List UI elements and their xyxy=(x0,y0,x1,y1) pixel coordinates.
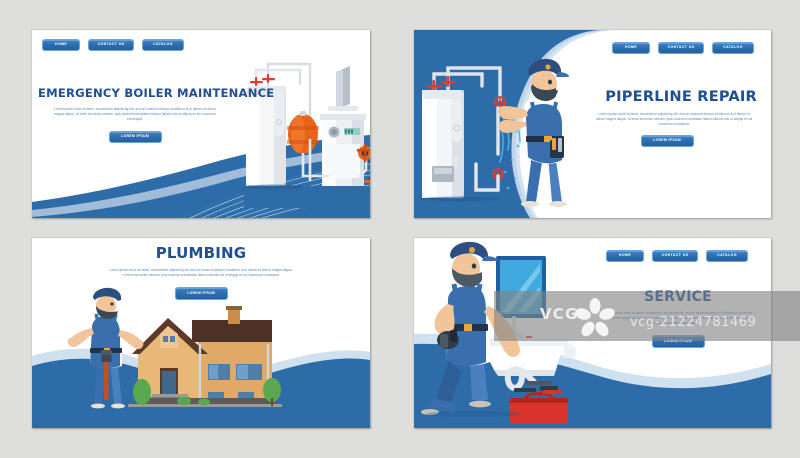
screenshot-canvas: HOME CONTACT US CATALOG EMERGENCY BOILER… xyxy=(0,0,800,458)
hero-copy: PLUMBING Lorem ipsum dolor sit amet, con… xyxy=(94,246,308,300)
cta-button[interactable]: LOREM IPSUM xyxy=(109,131,162,143)
cta-button[interactable]: LOREM IPSUM xyxy=(641,135,694,147)
illustration-boiler-and-furnace xyxy=(244,48,370,208)
nav-contact-us-button[interactable]: CONTACT US xyxy=(88,39,134,51)
watermark-overlay: VCG vcg-21224781469 xyxy=(494,291,800,341)
panel-plumbing: PLUMBING Lorem ipsum dolor sit amet, con… xyxy=(32,238,370,428)
body-text: Lorem ipsum dolor sit amet, consectetur … xyxy=(574,112,760,127)
watermark-logo-text: VCG xyxy=(540,305,579,323)
nav-home-button[interactable]: HOME xyxy=(606,250,644,262)
hero-copy: PIPERLINE REPAIR Lorem ipsum dolor sit a… xyxy=(574,90,760,147)
nav-bar: HOME CONTACT US CATALOG xyxy=(42,39,184,51)
nav-catalog-button[interactable]: CATALOG xyxy=(712,42,754,54)
cta-button[interactable]: LOREM IPSUM xyxy=(175,287,228,299)
page-title: EMERGENCY BOILER MAINTENANCE xyxy=(38,88,232,100)
page-title: PIPERLINE REPAIR xyxy=(574,90,760,105)
nav-bar: HOME CONTACT US CATALOG xyxy=(606,250,748,262)
nav-contact-us-button[interactable]: CONTACT US xyxy=(652,250,698,262)
nav-catalog-button[interactable]: CATALOG xyxy=(142,39,184,51)
body-text: Lorem ipsum dolor sit amet, consectetur … xyxy=(38,107,232,122)
nav-home-button[interactable]: HOME xyxy=(42,39,80,51)
panel-emergency-boiler-maintenance: HOME CONTACT US CATALOG EMERGENCY BOILER… xyxy=(32,30,370,218)
panel-piperline-repair: HOME CONTACT US CATALOG PIPERLINE REPAIR… xyxy=(414,30,771,218)
nav-bar: HOME CONTACT US CATALOG xyxy=(612,42,754,54)
nav-contact-us-button[interactable]: CONTACT US xyxy=(658,42,704,54)
watermark-id-text: vcg-21224781469 xyxy=(630,315,756,330)
illustration-plumber-fixing-leaking-boiler-pipe xyxy=(420,50,590,215)
hero-copy: EMERGENCY BOILER MAINTENANCE Lorem ipsum… xyxy=(38,88,232,143)
nav-catalog-button[interactable]: CATALOG xyxy=(706,250,748,262)
body-text: Lorem ipsum dolor sit amet, consectetur … xyxy=(94,268,308,278)
page-title: PLUMBING xyxy=(94,246,308,261)
nav-home-button[interactable]: HOME xyxy=(612,42,650,54)
vcg-flower-icon xyxy=(574,297,616,339)
illustration-plumber-with-wrench-and-house xyxy=(32,298,370,428)
